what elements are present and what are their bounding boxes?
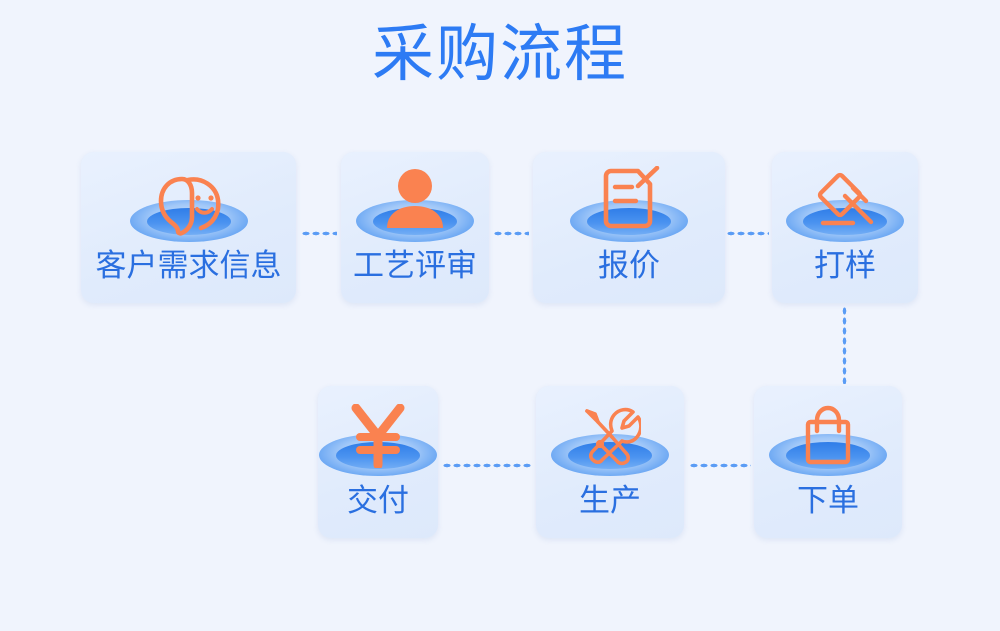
connector-step3-step4	[726, 231, 769, 236]
icon-zone	[772, 152, 918, 248]
connector-step6-step7	[442, 463, 532, 468]
gavel-icon	[809, 166, 881, 234]
flow-step-card-sampling[interactable]: 打样	[772, 152, 918, 303]
flow-step-label: 打样	[772, 247, 918, 285]
flow-step-label: 工艺评审	[341, 247, 489, 285]
flow-step-card-delivery[interactable]: 交付	[318, 386, 438, 538]
connector-step2-step3	[493, 231, 529, 236]
icon-zone	[533, 152, 725, 248]
wrench-screwdriver-icon	[579, 406, 641, 466]
icon-zone	[536, 386, 684, 482]
icon-zone	[341, 152, 489, 248]
connector-step5-step6	[689, 463, 751, 468]
icon-zone	[318, 386, 438, 482]
flow-step-label: 生产	[536, 482, 684, 520]
yuan-currency-icon	[349, 404, 407, 468]
flow-step-label: 交付	[318, 482, 438, 520]
flow-step-card-process-review[interactable]: 工艺评审	[341, 152, 489, 303]
flow-step-label: 下单	[754, 482, 902, 520]
connector-step1-step2	[301, 231, 337, 236]
document-edit-icon	[598, 166, 660, 232]
connector-step4-step5	[842, 306, 847, 384]
flow-step-card-quotation[interactable]: 报价	[533, 152, 725, 303]
icon-zone	[81, 152, 296, 248]
flow-step-card-production[interactable]: 生产	[536, 386, 684, 538]
customer-service-phone-icon	[152, 172, 226, 238]
shopping-bag-icon	[799, 404, 857, 466]
flow-step-label: 客户需求信息	[81, 247, 296, 285]
icon-zone	[754, 386, 902, 482]
flow-diagram-canvas: 采购流程 客户需求信息	[0, 0, 1000, 631]
flow-step-label: 报价	[533, 247, 725, 285]
flow-step-card-place-order[interactable]: 下单	[754, 386, 902, 538]
flow-step-card-customer-requirements[interactable]: 客户需求信息	[81, 152, 296, 303]
page-title: 采购流程	[0, 12, 1000, 98]
person-icon	[382, 168, 448, 230]
